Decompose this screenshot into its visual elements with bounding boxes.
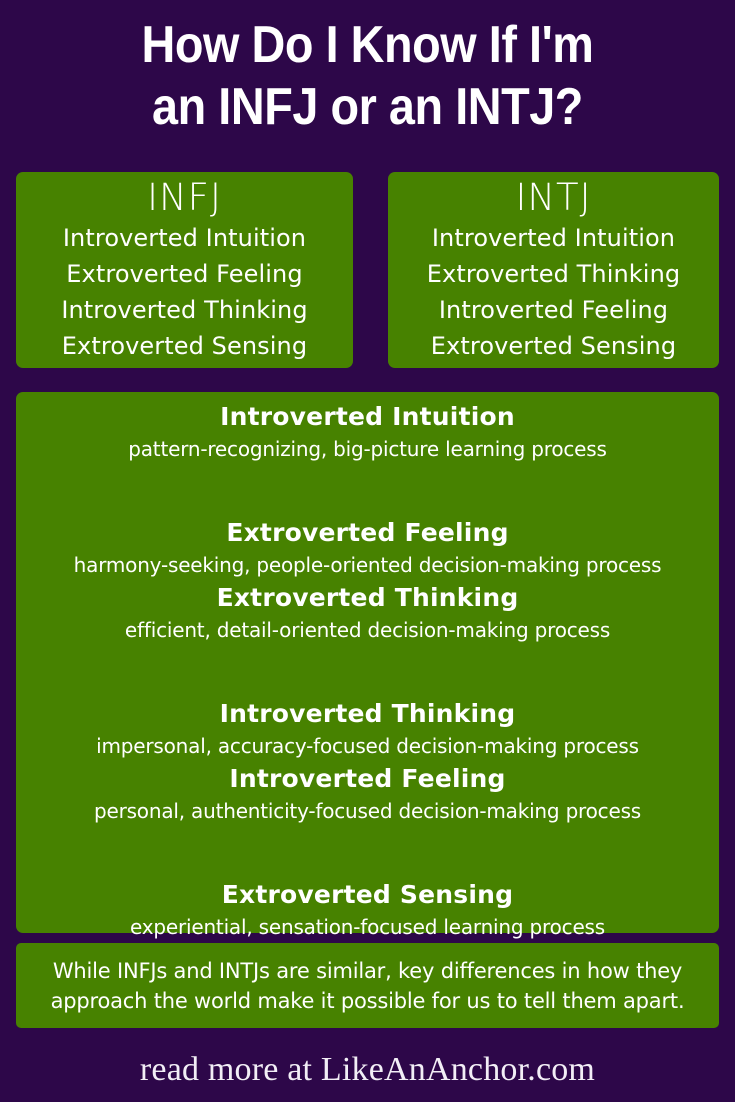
definition-item: Extroverted Feeling harmony-seeking, peo… (26, 516, 709, 581)
definition-item: Extroverted Sensing experiential, sensat… (26, 878, 709, 943)
spacer (26, 646, 709, 697)
summary-panel: While INFJs and INTJs are similar, key d… (16, 943, 719, 1028)
footer-credit: read more at LikeAnAnchor.com (0, 1048, 735, 1092)
definition-description: experiential, sensation-focused learning… (26, 911, 709, 943)
definition-term: Introverted Intuition (26, 400, 709, 433)
type-card-infj: INFJ Introverted Intuition Extroverted F… (16, 172, 353, 368)
definition-description: personal, authenticity-focused decision-… (26, 795, 709, 827)
page-title-line-1: How Do I Know If I'm (37, 14, 699, 76)
definition-description: harmony-seeking, people-oriented decisio… (26, 549, 709, 581)
definition-term: Introverted Thinking (26, 697, 709, 730)
type-card-infj-function: Introverted Thinking (16, 292, 353, 328)
definition-term: Extroverted Thinking (26, 581, 709, 614)
definition-item: Introverted Intuition pattern-recognizin… (26, 400, 709, 465)
definition-item: Introverted Feeling personal, authentici… (26, 762, 709, 827)
type-card-intj-function: Introverted Feeling (388, 292, 719, 328)
type-card-intj-function-list: Introverted Intuition Extroverted Thinki… (388, 220, 719, 364)
spacer (26, 827, 709, 878)
type-card-intj: INTJ Introverted Intuition Extroverted T… (388, 172, 719, 368)
type-card-infj-title: INFJ (16, 176, 353, 220)
page-title: How Do I Know If I'm an INFJ or an INTJ? (37, 14, 699, 138)
definition-item: Introverted Thinking impersonal, accurac… (26, 697, 709, 762)
definition-term: Extroverted Sensing (26, 878, 709, 911)
type-card-infj-function: Extroverted Feeling (16, 256, 353, 292)
spacer (26, 465, 709, 516)
type-card-infj-function-list: Introverted Intuition Extroverted Feelin… (16, 220, 353, 364)
function-definitions-panel: Introverted Intuition pattern-recognizin… (16, 392, 719, 933)
definition-description: efficient, detail-oriented decision-maki… (26, 614, 709, 646)
page-title-line-2: an INFJ or an INTJ? (37, 76, 699, 138)
definition-item: Extroverted Thinking efficient, detail-o… (26, 581, 709, 646)
type-card-intj-title: INTJ (388, 176, 719, 220)
type-card-infj-function: Extroverted Sensing (16, 328, 353, 364)
type-card-intj-function: Extroverted Sensing (388, 328, 719, 364)
type-card-intj-function: Extroverted Thinking (388, 256, 719, 292)
type-card-infj-function: Introverted Intuition (16, 220, 353, 256)
type-card-intj-function: Introverted Intuition (388, 220, 719, 256)
definition-term: Introverted Feeling (26, 762, 709, 795)
summary-text: While INFJs and INTJs are similar, key d… (16, 956, 719, 1016)
definition-description: pattern-recognizing, big-picture learnin… (26, 433, 709, 465)
definition-term: Extroverted Feeling (26, 516, 709, 549)
definition-description: impersonal, accuracy-focused decision-ma… (26, 730, 709, 762)
